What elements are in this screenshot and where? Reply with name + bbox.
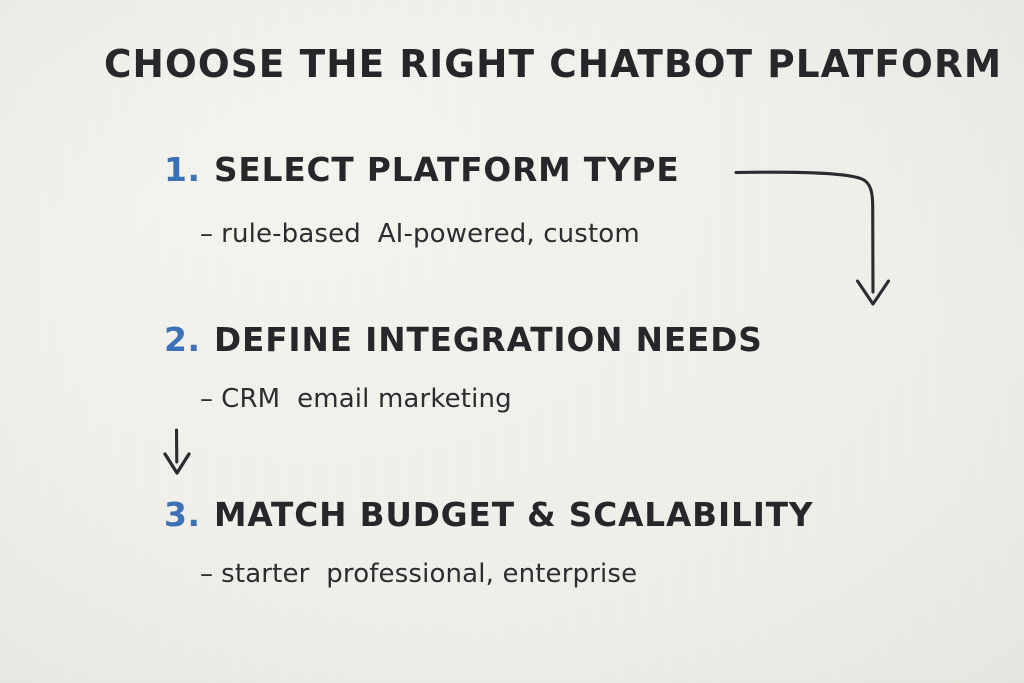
step-number-3: 3. <box>164 495 201 534</box>
step-detail-2: – CRM email marketing <box>200 384 512 414</box>
step-item-2: 2. DEFINE INTEGRATION NEEDS <box>164 320 768 359</box>
step-detail-text-1: rule-based AI-powered, custom <box>221 219 640 249</box>
step-item-3: 3. MATCH BUDGET & SCALABILITY <box>164 495 819 534</box>
step-number-1: 1. <box>164 150 201 189</box>
step-number-2: 2. <box>164 320 201 359</box>
step-detail-text-2: CRM email marketing <box>221 384 512 414</box>
step-label-2: DEFINE INTEGRATION NEEDS <box>214 320 763 359</box>
poster-canvas: CHOOSE THE RIGHT CHATBOT PLATFORM 1. SEL… <box>0 0 1024 683</box>
step-detail-3: – starter professional, enterprise <box>200 559 637 589</box>
step-item-1: 1. SELECT PLATFORM TYPE <box>164 150 684 189</box>
step-label-3: MATCH BUDGET & SCALABILITY <box>214 495 813 534</box>
step-detail-text-3: starter professional, enterprise <box>221 559 637 589</box>
dash-bullet-icon: – <box>200 384 213 414</box>
page-title: CHOOSE THE RIGHT CHATBOT PLATFORM <box>104 42 892 86</box>
step-label-1: SELECT PLATFORM TYPE <box>214 150 680 189</box>
elbow-arrow-step1-to-step2 <box>736 172 889 304</box>
dash-bullet-icon: – <box>200 219 213 249</box>
dash-bullet-icon: – <box>200 559 213 589</box>
step-detail-1: – rule-based AI-powered, custom <box>200 219 640 249</box>
down-arrow-step2-to-step3 <box>165 430 189 473</box>
